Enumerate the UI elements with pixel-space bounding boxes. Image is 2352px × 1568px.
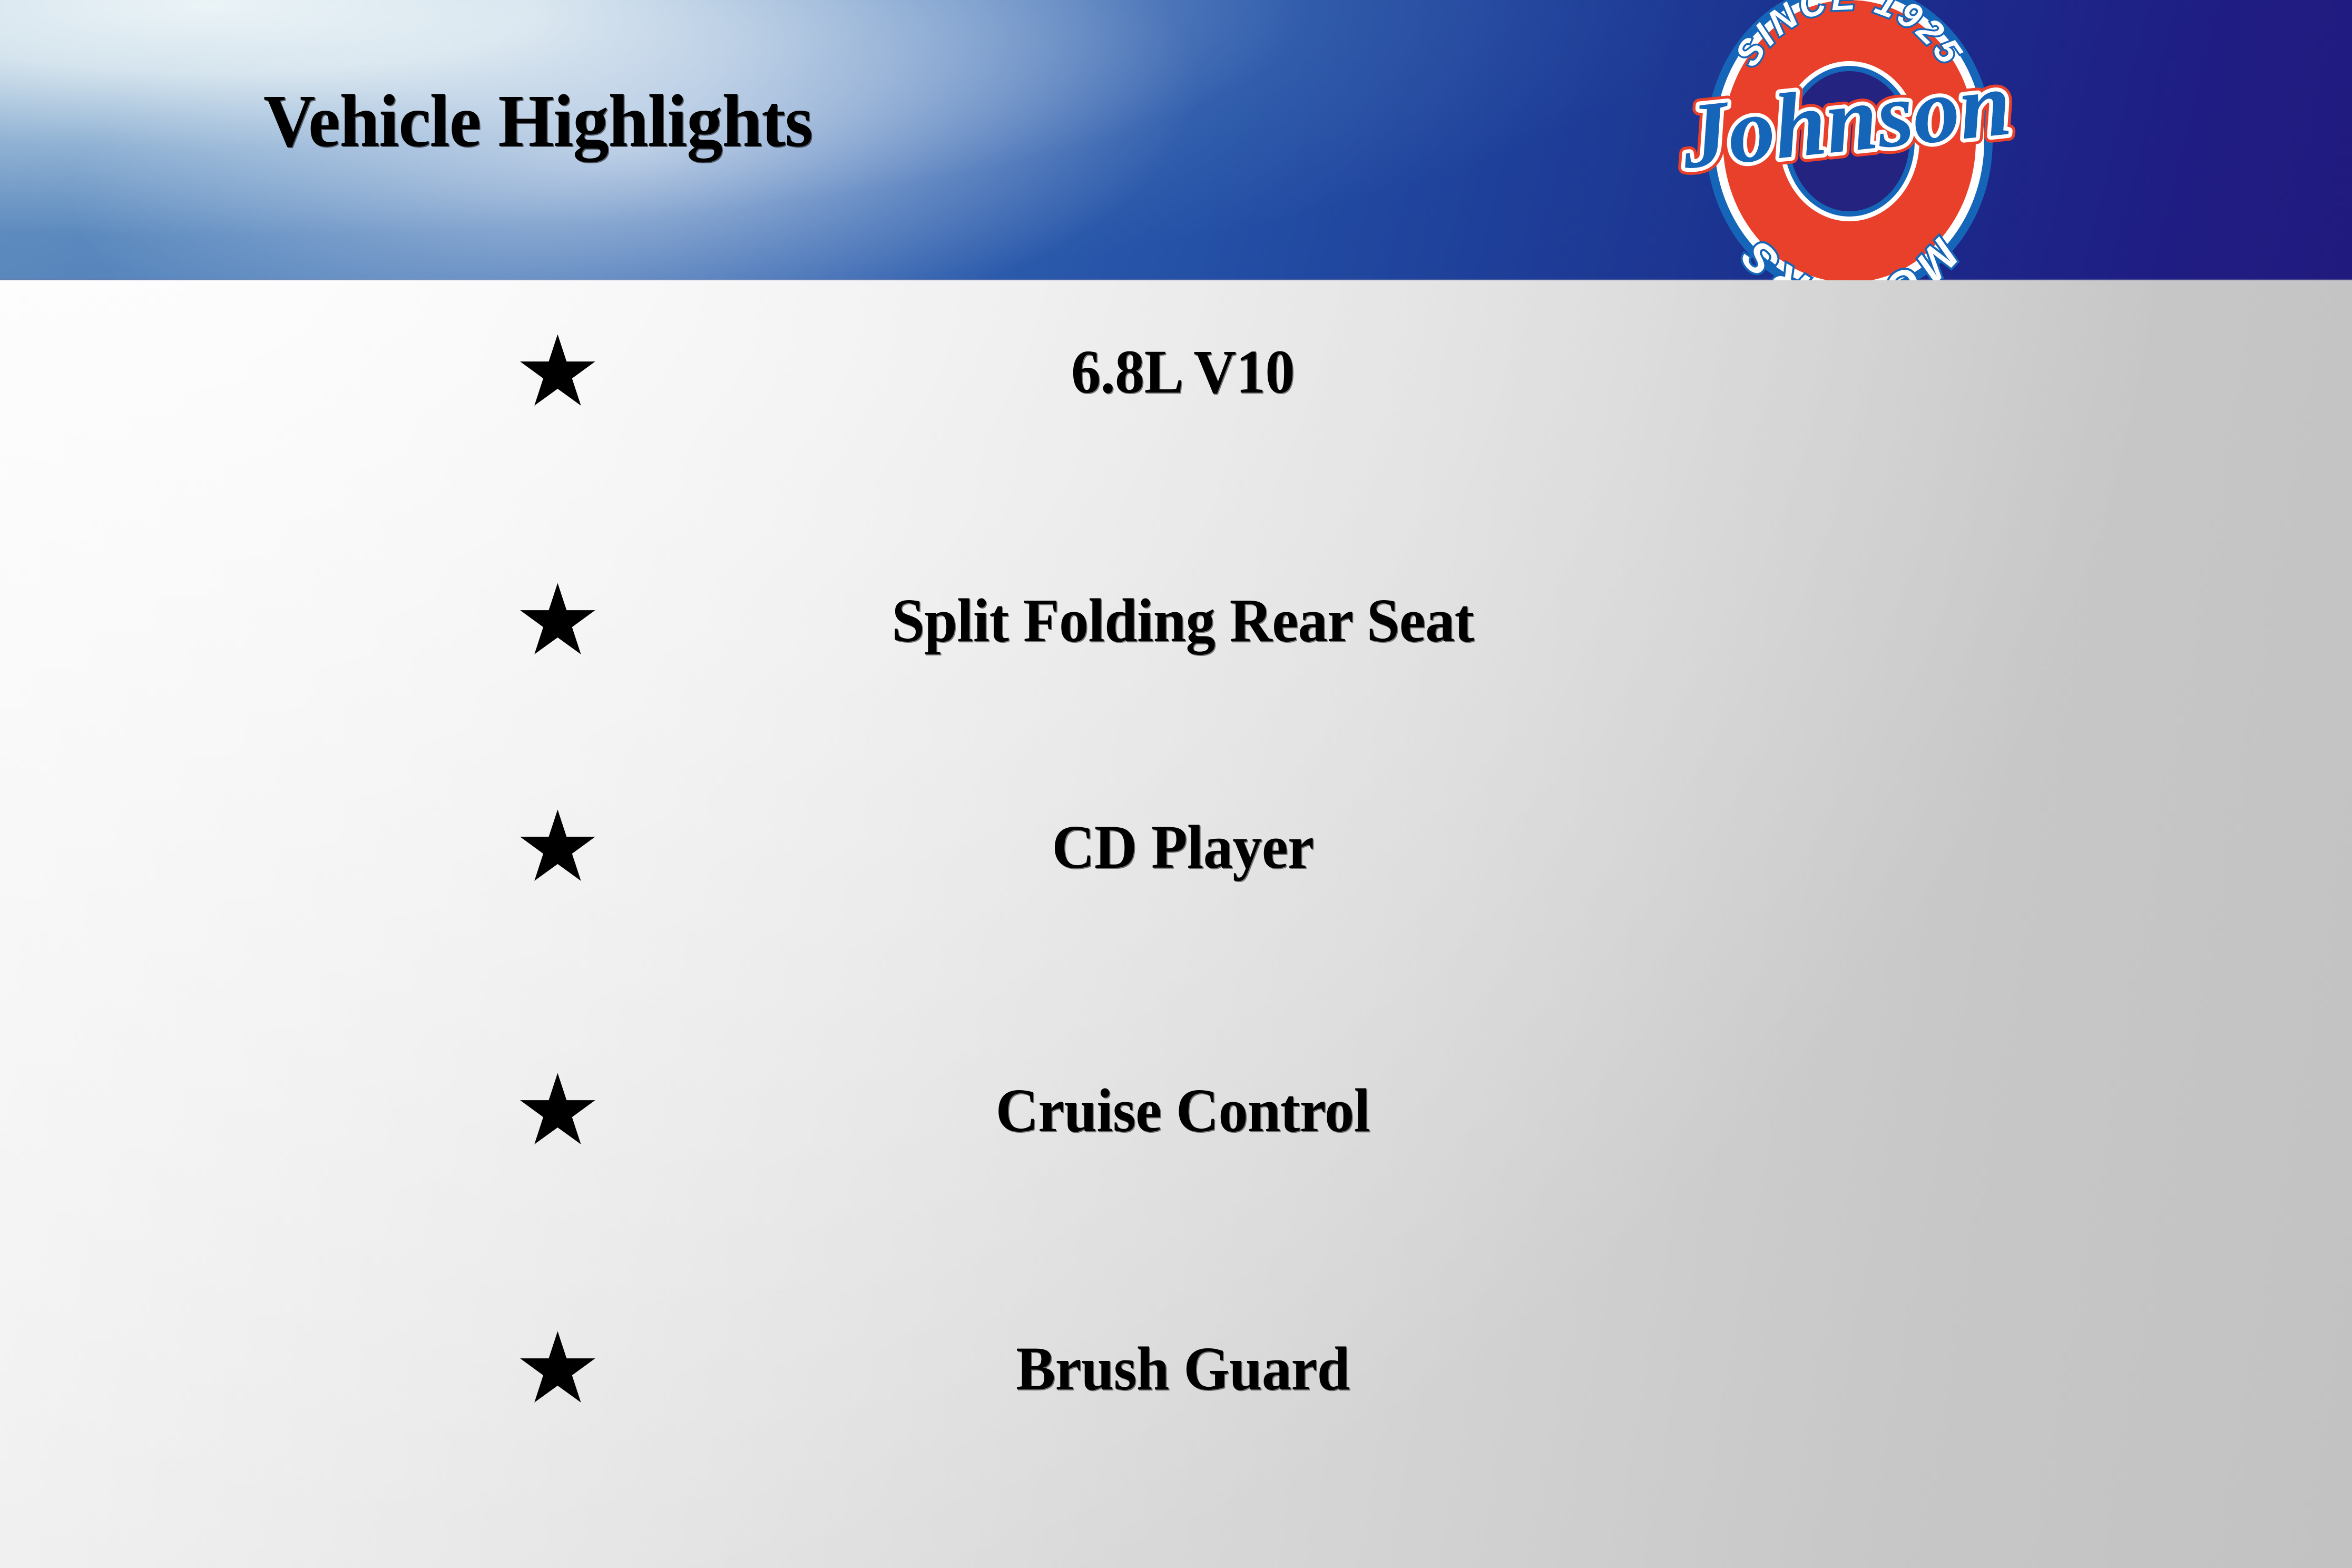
feature-label: Split Folding Rear Seat (682, 584, 1683, 658)
star-icon: ★ (514, 1329, 598, 1413)
feature-label: Cruise Control (682, 1074, 1683, 1148)
list-item: ★ 6.8L V10 (0, 332, 2352, 437)
list-item: ★ Cruise Control (0, 1071, 2352, 1176)
list-item: ★ Split Folding Rear Seat (0, 581, 2352, 686)
header-band: Vehicle Highlights (0, 0, 2352, 280)
feature-label: CD Player (682, 810, 1683, 884)
feature-label: 6.8L V10 (682, 335, 1683, 409)
list-item: ★ Brush Guard (0, 1329, 2352, 1434)
vehicle-highlights-list: ★ 6.8L V10 ★ Split Folding Rear Seat ★ C… (0, 280, 2352, 1568)
star-icon: ★ (514, 332, 598, 416)
star-icon: ★ (514, 1071, 598, 1155)
feature-label: Brush Guard (682, 1332, 1683, 1406)
star-icon: ★ (514, 807, 598, 891)
slide-canvas: Vehicle Highlights (0, 0, 2352, 1568)
star-icon: ★ (514, 581, 598, 665)
johnson-motors-logo[interactable]: SINCE 1925 MOTORS Johnson Johnson (1665, 0, 2034, 280)
page-title: Vehicle Highlights (263, 83, 812, 158)
list-item: ★ CD Player (0, 807, 2352, 913)
